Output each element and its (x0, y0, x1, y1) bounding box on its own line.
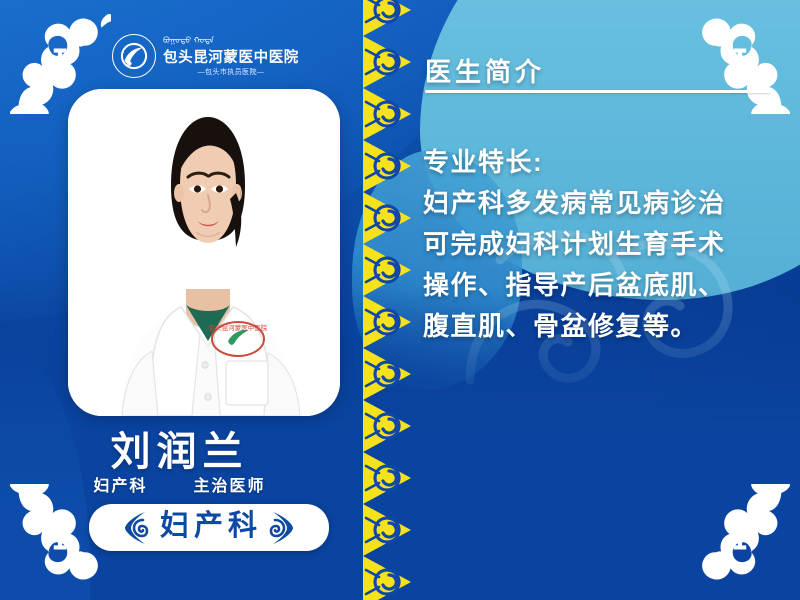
intro-text: 专业特长: 妇产科多发病常见病诊治 可完成妇科计划生育手术 操作、指导产后盆底肌… (423, 142, 795, 347)
department-badge-label: 妇产科 (150, 512, 268, 544)
hospital-emblem-icon (112, 34, 156, 78)
hospital-logo: ᠪᠤᠭᠤᠲᠤ ᠬᠤᠲᠠ 包头昆河蒙医中医院 —包头市执员医院— (112, 30, 292, 82)
intro-line: 腹直肌、骨盆修复等。 (423, 306, 795, 347)
intro-panel: 医生简介 专业特长: 妇产科多发病常见病诊治 可完成妇科计划生育手术 操作、指导… (415, 0, 800, 600)
cloud-scroll-icon (120, 511, 150, 545)
mongolian-zigzag-band-icon (359, 0, 415, 600)
section-title: 医生简介 (425, 52, 545, 89)
hospital-name-chinese: 包头昆河蒙医中医院 (163, 51, 299, 66)
doctor-photo: 包头昆河蒙医中医院 (68, 89, 340, 416)
doctor-department: 妇产科 (93, 472, 147, 496)
department-badge: 妇产科 (89, 504, 329, 551)
doctor-name: 刘润兰 (0, 419, 359, 477)
hospital-name-mongolian: ᠪᠤᠭᠤᠲᠤ ᠬᠤᠲᠠ (163, 36, 299, 49)
doctor-meta: 妇产科 主治医师 (0, 472, 359, 496)
title-divider (425, 90, 770, 93)
intro-line: 操作、指导产后盆底肌、 (423, 265, 795, 306)
doctor-profile-poster: ᠪᠤᠭᠤᠲᠤ ᠬᠤᠲᠠ 包头昆河蒙医中医院 —包头市执员医院— (0, 0, 800, 600)
doctor-panel: ᠪᠤᠭᠤᠲᠤ ᠬᠤᠲᠠ 包头昆河蒙医中医院 —包头市执员医院— (0, 0, 359, 600)
intro-line: 专业特长: (423, 142, 795, 183)
cloud-scroll-icon (268, 511, 298, 545)
doctor-title: 主治医师 (194, 472, 266, 496)
hospital-subtitle: —包头市执员医院— (163, 69, 299, 76)
intro-line: 可完成妇科计划生育手术 (423, 224, 795, 265)
svg-text:包头昆河蒙医中医院: 包头昆河蒙医中医院 (209, 323, 268, 332)
intro-line: 妇产科多发病常见病诊治 (423, 183, 795, 224)
